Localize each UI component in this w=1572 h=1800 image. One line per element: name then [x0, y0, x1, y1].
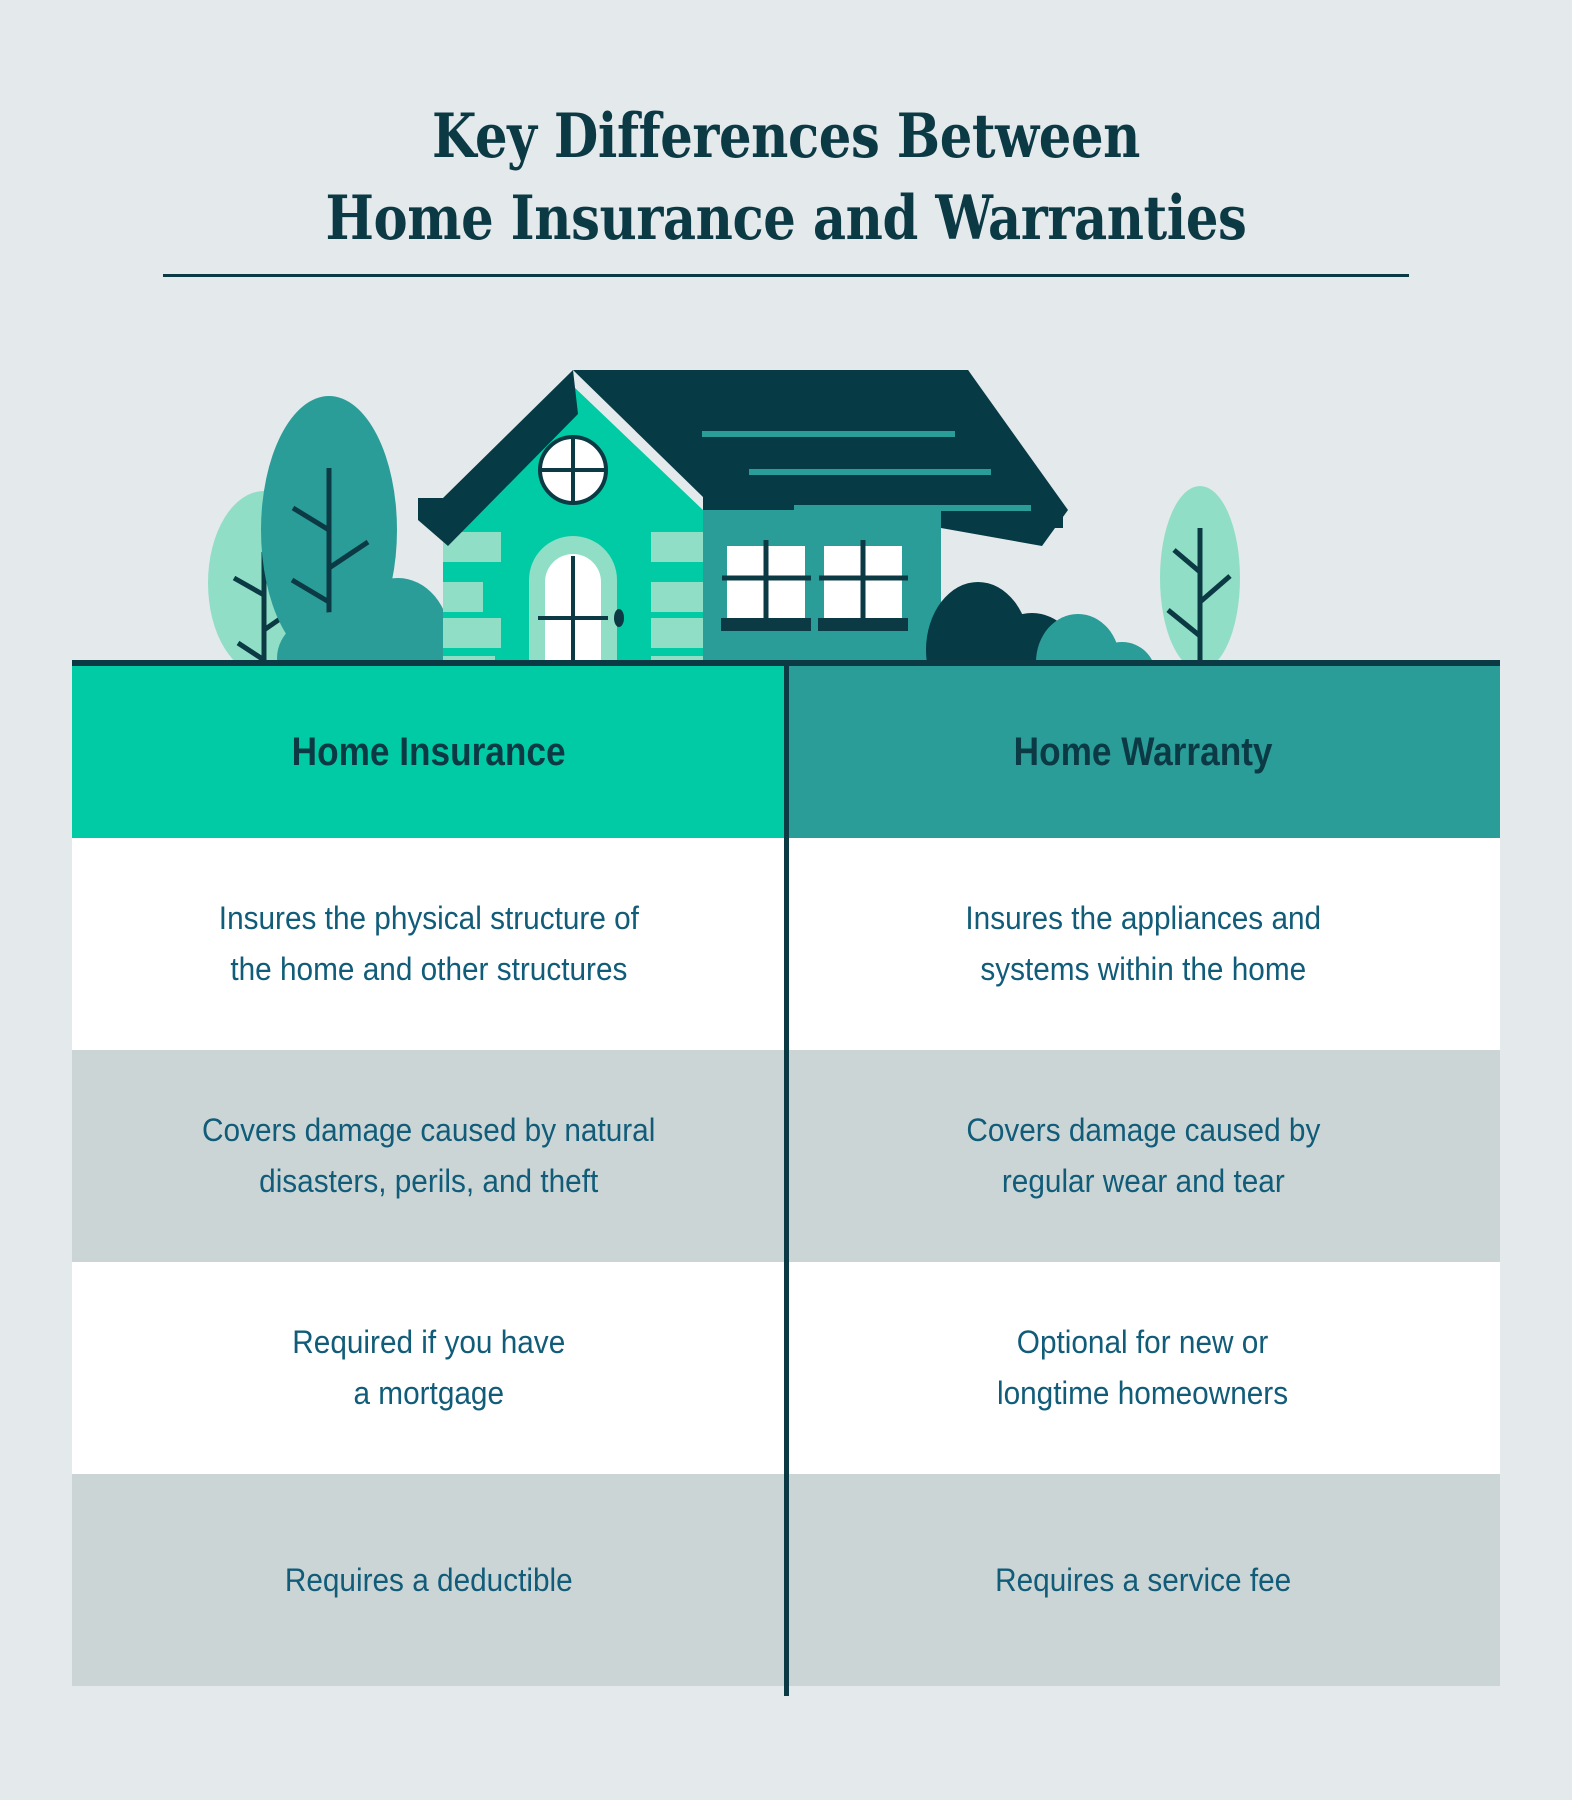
table-cell-insurance: Requires a deductible	[72, 1474, 786, 1686]
column-header-home-insurance: Home Insurance	[72, 666, 786, 838]
house-with-trees-illustration	[0, 350, 1572, 680]
table-cell-warranty: Covers damage caused by regular wear and…	[786, 1050, 1500, 1262]
table-cell-warranty: Requires a service fee	[786, 1474, 1500, 1686]
table-cell-text: Optional for new or longtime homeowners	[997, 1317, 1288, 1419]
table-cell-text: Covers damage caused by regular wear and…	[966, 1105, 1320, 1207]
table-column-divider	[784, 660, 789, 1696]
title-line-2: Home Insurance and Warranties	[126, 178, 1446, 260]
arched-front-door	[529, 536, 624, 680]
infographic-page: Key Differences Between Home Insurance a…	[0, 0, 1572, 1800]
column-header-home-warranty-label: Home Warranty	[1014, 729, 1273, 775]
table-cell-text: Requires a deductible	[285, 1555, 573, 1606]
page-title: Key Differences Between Home Insurance a…	[0, 96, 1572, 260]
table-cell-warranty: Optional for new or longtime homeowners	[786, 1262, 1500, 1474]
table-cell-text: Required if you have a mortgage	[293, 1317, 566, 1419]
table-cell-warranty: Insures the appliances and systems withi…	[786, 838, 1500, 1050]
title-line-1: Key Differences Between	[126, 96, 1446, 178]
tree-right	[1160, 486, 1240, 680]
round-attic-window	[540, 437, 606, 503]
column-header-home-insurance-label: Home Insurance	[292, 729, 566, 775]
table-cell-text: Covers damage caused by natural disaster…	[202, 1105, 655, 1207]
table-cell-text: Insures the appliances and systems withi…	[965, 893, 1321, 995]
table-cell-insurance: Required if you have a mortgage	[72, 1262, 786, 1474]
comparison-table: Home Insurance Home Warranty Insures the…	[72, 666, 1500, 1686]
column-header-home-warranty: Home Warranty	[786, 666, 1500, 838]
table-cell-insurance: Covers damage caused by natural disaster…	[72, 1050, 786, 1262]
title-underline-rule	[163, 274, 1409, 277]
table-cell-text: Requires a service fee	[995, 1555, 1291, 1606]
table-cell-text: Insures the physical structure of the ho…	[219, 893, 639, 995]
table-cell-insurance: Insures the physical structure of the ho…	[72, 838, 786, 1050]
